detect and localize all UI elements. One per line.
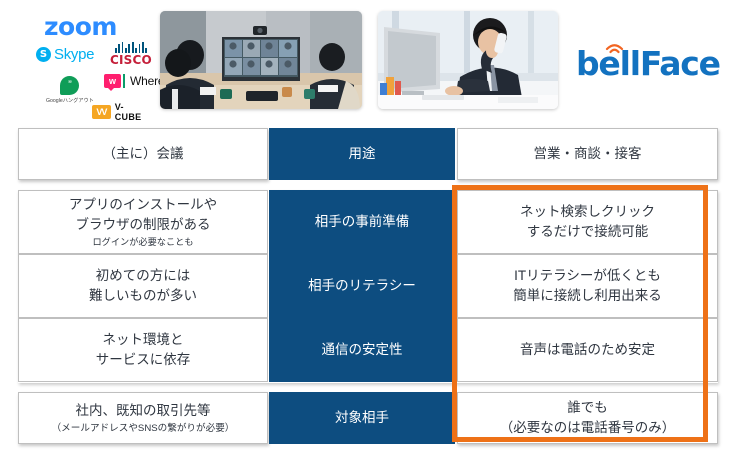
row4-right-line1: 誰でも bbox=[567, 398, 608, 418]
comparison-table: （主に）会議 用途 営業・商談・接客 アプリのインストールや ブラウザの制限があ… bbox=[0, 0, 736, 454]
header-middle-label: 用途 bbox=[349, 144, 376, 164]
row1-middle-label: 相手の事前準備 bbox=[315, 212, 410, 232]
table-row-4-middle: 対象相手 bbox=[269, 392, 455, 444]
table-row-2-middle: 相手のリテラシー bbox=[269, 254, 455, 318]
table-row-1-middle: 相手の事前準備 bbox=[269, 190, 455, 254]
row3-middle-label: 通信の安定性 bbox=[322, 340, 403, 360]
row4-right-subtext: （必要なのは電話番号のみ） bbox=[500, 418, 676, 438]
table-row-4-left: 社内、既知の取引先等 （メールアドレスやSNSの繋がりが必要） bbox=[18, 392, 268, 444]
row3-right-line1: 音声は電話のため安定 bbox=[520, 340, 655, 360]
row2-left-line1: 初めての方には bbox=[96, 266, 191, 286]
table-row-3-middle: 通信の安定性 bbox=[269, 318, 455, 382]
row1-right-line1: ネット検索しクリック bbox=[520, 202, 655, 222]
table-row-1-left: アプリのインストールや ブラウザの制限がある ログインが必要なことも bbox=[18, 190, 268, 254]
row1-left-subtext: ログインが必要なことも bbox=[92, 236, 193, 249]
row2-right-line2: 簡単に接続し利用出来る bbox=[513, 286, 662, 306]
table-row-4-right: 誰でも （必要なのは電話番号のみ） bbox=[457, 392, 718, 444]
slide-root: zoom S Skype CISCO w Whe bbox=[0, 0, 736, 454]
header-right-label: 営業・商談・接客 bbox=[534, 144, 642, 164]
table-row-2-left: 初めての方には 難しいものが多い bbox=[18, 254, 268, 318]
row2-middle-label: 相手のリテラシー bbox=[308, 276, 416, 296]
table-row-1-right: ネット検索しクリック するだけで接続可能 bbox=[457, 190, 718, 254]
row1-right-line2: するだけで接続可能 bbox=[527, 222, 649, 242]
table-row-3-left: ネット環境と サービスに依存 bbox=[18, 318, 268, 382]
header-cell-middle: 用途 bbox=[269, 128, 455, 180]
row1-left-line2: ブラウザの制限がある bbox=[76, 215, 211, 235]
table-row-3-right: 音声は電話のため安定 bbox=[457, 318, 718, 382]
table-row-2-right: ITリテラシーが低くとも 簡単に接続し利用出来る bbox=[457, 254, 718, 318]
row3-left-line2: サービスに依存 bbox=[96, 350, 191, 370]
header-left-label: （主に）会議 bbox=[103, 144, 184, 164]
row1-left-line1: アプリのインストールや bbox=[69, 195, 217, 215]
header-cell-right: 営業・商談・接客 bbox=[457, 128, 718, 180]
row4-left-line1: 社内、既知の取引先等 bbox=[76, 401, 211, 421]
header-cell-left: （主に）会議 bbox=[18, 128, 268, 180]
row2-right-line1: ITリテラシーが低くとも bbox=[514, 266, 661, 286]
row4-middle-label: 対象相手 bbox=[335, 408, 389, 428]
row3-left-line1: ネット環境と bbox=[103, 330, 184, 350]
row2-left-line2: 難しいものが多い bbox=[89, 286, 197, 306]
row4-left-subtext: （メールアドレスやSNSの繋がりが必要） bbox=[52, 422, 235, 435]
